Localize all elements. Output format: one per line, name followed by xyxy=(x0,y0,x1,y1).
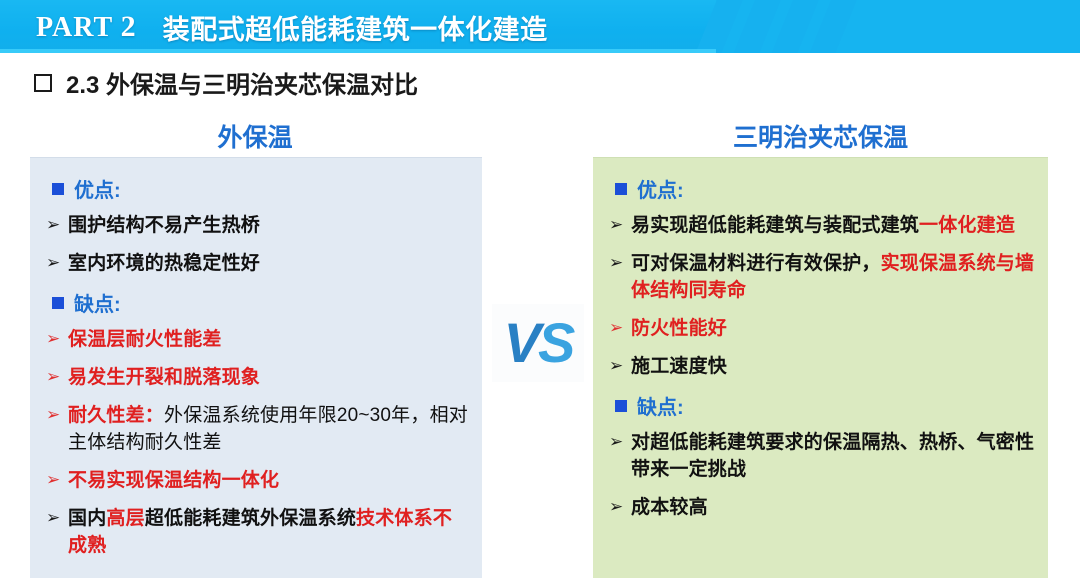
arrow-bullet-icon: ➢ xyxy=(46,505,68,532)
arrow-bullet-icon: ➢ xyxy=(609,250,631,277)
text-run: 保温层耐火性能差 xyxy=(68,329,222,350)
list-item-text: 防火性能好 xyxy=(631,315,1036,342)
arrow-bullet-icon: ➢ xyxy=(609,494,631,521)
list-item: ➢围护结构不易产生热桥 xyxy=(46,212,470,239)
list-item-text: 不易实现保温结构一体化 xyxy=(68,467,470,494)
text-run: 室内环境的热稳定性好 xyxy=(68,253,260,274)
square-bullet-icon xyxy=(52,297,64,309)
panel-sandwich-insulation: 优点:➢易实现超低能耗建筑与装配式建筑一体化建造➢可对保温材料进行有效保护，实现… xyxy=(593,157,1048,578)
text-run: 可对保温材料进行有效保护， xyxy=(631,253,881,274)
text-run: 易实现超低能耗建筑与装配式建筑 xyxy=(631,215,919,236)
text-run: 防火性能好 xyxy=(631,318,727,339)
group-heading-label: 优点: xyxy=(637,174,684,203)
panel-outer-insulation: 优点:➢围护结构不易产生热桥➢室内环境的热稳定性好缺点:➢保温层耐火性能差➢易发… xyxy=(30,157,482,578)
group-heading-left-1: 缺点: xyxy=(52,288,470,317)
vs-letter-s: S xyxy=(538,311,572,374)
text-run: 对超低能耗建筑要求的保温隔热、热桥、气密性带来一定挑战 xyxy=(631,432,1034,480)
list-item-text: 可对保温材料进行有效保护，实现保温系统与墙体结构同寿命 xyxy=(631,250,1036,304)
group-heading-label: 缺点: xyxy=(74,288,121,317)
text-run: 一体化建造 xyxy=(919,215,1015,236)
section-heading: 2.3 外保温与三明治夹芯保温对比 xyxy=(34,65,418,100)
list-item: ➢保温层耐火性能差 xyxy=(46,326,470,353)
part-number: 2 xyxy=(121,10,137,43)
arrow-bullet-icon: ➢ xyxy=(46,467,68,494)
arrow-bullet-icon: ➢ xyxy=(609,212,631,239)
arrow-bullet-icon: ➢ xyxy=(46,364,68,391)
part-label: PART 2 xyxy=(36,10,137,44)
arrow-bullet-icon: ➢ xyxy=(46,402,68,429)
column-title-left: 外保温 xyxy=(30,118,480,154)
list-item: ➢防火性能好 xyxy=(609,315,1036,342)
vs-letter-v: V xyxy=(504,311,538,374)
list-item-text: 易发生开裂和脱落现象 xyxy=(68,364,470,391)
list-item: ➢不易实现保温结构一体化 xyxy=(46,467,470,494)
text-run: 不易实现保温结构一体化 xyxy=(68,470,279,491)
arrow-bullet-icon: ➢ xyxy=(609,315,631,342)
list-item-text: 室内环境的热稳定性好 xyxy=(68,250,470,277)
arrow-bullet-icon: ➢ xyxy=(609,429,631,456)
vs-text: VS xyxy=(504,315,573,371)
header-underline xyxy=(0,49,716,53)
text-run: 耐久性差： xyxy=(68,405,164,426)
group-heading-left-0: 优点: xyxy=(52,174,470,203)
arrow-bullet-icon: ➢ xyxy=(46,326,68,353)
list-item-text: 耐久性差：外保温系统使用年限20~30年，相对主体结构耐久性差 xyxy=(68,402,470,456)
square-outline-icon xyxy=(34,74,52,92)
list-item-text: 施工速度快 xyxy=(631,353,1036,380)
list-item: ➢易实现超低能耗建筑与装配式建筑一体化建造 xyxy=(609,212,1036,239)
list-item: ➢可对保温材料进行有效保护，实现保温系统与墙体结构同寿命 xyxy=(609,250,1036,304)
arrow-bullet-icon: ➢ xyxy=(46,212,68,239)
header-diagonal-stripes xyxy=(700,0,880,53)
header-band: PART 2 装配式超低能耗建筑一体化建造 xyxy=(0,0,1080,53)
group-heading-label: 缺点: xyxy=(637,391,684,420)
square-bullet-icon xyxy=(52,183,64,195)
header-title-cn: 装配式超低能耗建筑一体化建造 xyxy=(163,8,548,47)
arrow-bullet-icon: ➢ xyxy=(46,250,68,277)
list-item: ➢易发生开裂和脱落现象 xyxy=(46,364,470,391)
group-heading-label: 优点: xyxy=(74,174,121,203)
list-item-text: 成本较高 xyxy=(631,494,1036,521)
group-heading-right-0: 优点: xyxy=(615,174,1036,203)
square-bullet-icon xyxy=(615,183,627,195)
text-run: 成本较高 xyxy=(631,497,708,518)
list-item-text: 国内高层超低能耗建筑外保温系统技术体系不成熟 xyxy=(68,505,470,559)
section-heading-text: 2.3 外保温与三明治夹芯保温对比 xyxy=(66,65,418,100)
list-item-text: 保温层耐火性能差 xyxy=(68,326,470,353)
text-run: 超低能耗建筑外保温系统 xyxy=(145,508,356,529)
arrow-bullet-icon: ➢ xyxy=(609,353,631,380)
part-word: PART xyxy=(36,12,113,43)
list-item-text: 对超低能耗建筑要求的保温隔热、热桥、气密性带来一定挑战 xyxy=(631,429,1036,483)
header-title: PART 2 装配式超低能耗建筑一体化建造 xyxy=(36,5,548,49)
text-run: 围护结构不易产生热桥 xyxy=(68,215,260,236)
list-item: ➢室内环境的热稳定性好 xyxy=(46,250,470,277)
list-item: ➢成本较高 xyxy=(609,494,1036,521)
text-run: 易发生开裂和脱落现象 xyxy=(68,367,260,388)
square-bullet-icon xyxy=(615,400,627,412)
text-run: 施工速度快 xyxy=(631,356,727,377)
list-item-text: 易实现超低能耗建筑与装配式建筑一体化建造 xyxy=(631,212,1036,239)
text-run: 国内 xyxy=(68,508,106,529)
column-title-right: 三明治夹芯保温 xyxy=(593,118,1048,154)
list-item: ➢对超低能耗建筑要求的保温隔热、热桥、气密性带来一定挑战 xyxy=(609,429,1036,483)
list-item: ➢施工速度快 xyxy=(609,353,1036,380)
list-item: ➢国内高层超低能耗建筑外保温系统技术体系不成熟 xyxy=(46,505,470,559)
list-item: ➢耐久性差：外保温系统使用年限20~30年，相对主体结构耐久性差 xyxy=(46,402,470,456)
group-heading-right-1: 缺点: xyxy=(615,391,1036,420)
list-item-text: 围护结构不易产生热桥 xyxy=(68,212,470,239)
text-run: 高层 xyxy=(106,508,144,529)
vs-badge: VS xyxy=(492,304,584,382)
